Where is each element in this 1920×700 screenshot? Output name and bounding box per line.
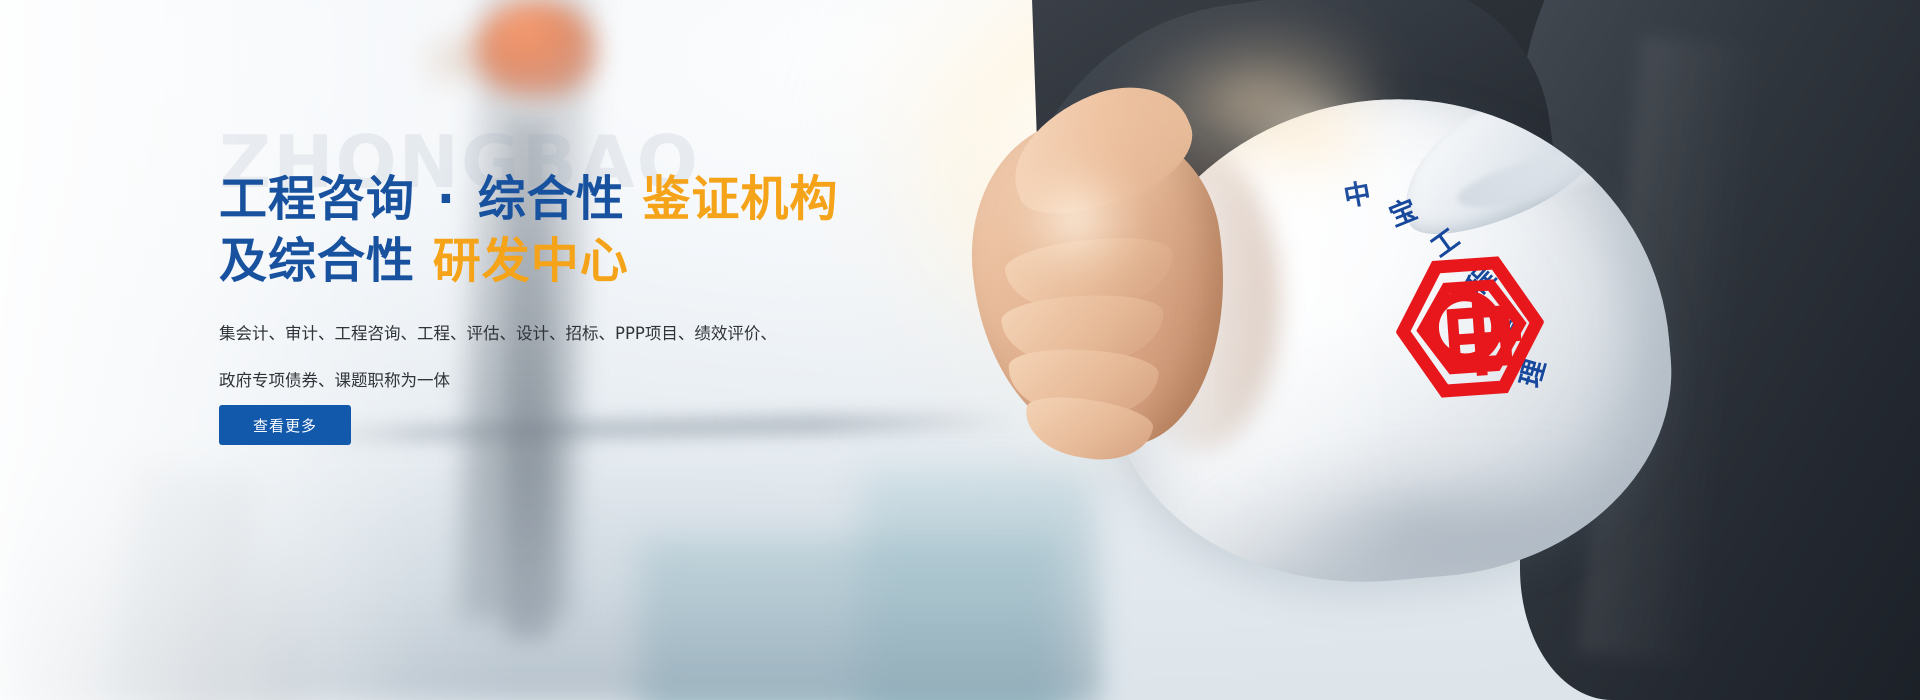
page-title: 工程咨询 · 综合性 鉴证机构 及综合性 研发中心 — [219, 168, 838, 292]
headline-separator: · — [433, 171, 460, 227]
description-line-2: 政府专项债券、课题职称为一体 — [219, 357, 819, 404]
hero-content: ZHONGBAO 工程咨询 · 综合性 鉴证机构 及综合性 研发中心 集会计、审… — [219, 0, 939, 700]
headline-line-1: 工程咨询 · 综合性 鉴证机构 — [219, 171, 838, 227]
headline-part-3-accent: 鉴证机构 — [642, 171, 838, 227]
hero-banner: 理 管 程 工 宝 中 — [0, 0, 1920, 700]
view-more-button[interactable]: 查看更多 — [219, 405, 351, 445]
headline-line-2: 及综合性 研发中心 — [219, 230, 838, 292]
headline-part-2: 综合性 — [478, 171, 625, 227]
headline-part-5-accent: 研发中心 — [433, 233, 629, 289]
hat-char-3: 工 — [1427, 225, 1465, 263]
headline-part-4: 及综合性 — [219, 233, 415, 289]
hexagon-emblem-icon — [1391, 253, 1548, 401]
headline-part-1: 工程咨询 — [219, 171, 415, 227]
hero-description: 集会计、审计、工程咨询、工程、评估、设计、招标、PPP项目、绩效评价、 政府专项… — [219, 310, 819, 404]
sleeve-sun-highlight-2 — [1210, 60, 1410, 210]
description-line-1: 集会计、审计、工程咨询、工程、评估、设计、招标、PPP项目、绩效评价、 — [219, 310, 819, 357]
